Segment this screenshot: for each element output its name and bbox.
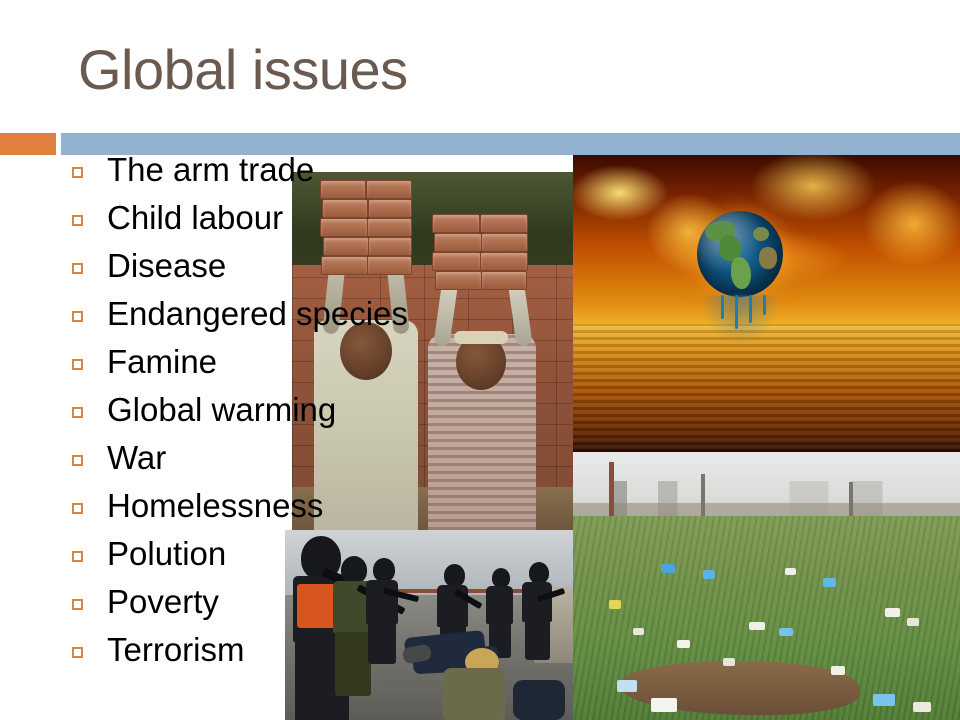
title-accent-bar — [0, 133, 56, 155]
hollow-square-bullet-icon — [72, 455, 83, 466]
hollow-square-bullet-icon — [72, 407, 83, 418]
list-item-label: Disease — [107, 248, 226, 284]
list-item-label: War — [107, 440, 166, 476]
hollow-square-bullet-icon — [72, 215, 83, 226]
hollow-square-bullet-icon — [72, 503, 83, 514]
hollow-square-bullet-icon — [72, 263, 83, 274]
list-item-label: Polution — [107, 536, 226, 572]
slide-title: Global issues — [78, 38, 408, 102]
list-item-label: Famine — [107, 344, 217, 380]
earth-globe-icon — [697, 211, 783, 297]
hollow-square-bullet-icon — [72, 167, 83, 178]
list-item[interactable]: Famine — [72, 338, 592, 386]
list-item-label: Child labour — [107, 200, 283, 236]
list-item-label: Poverty — [107, 584, 219, 620]
list-item[interactable]: Global warming — [72, 386, 592, 434]
list-item[interactable]: Polution — [72, 530, 592, 578]
list-item-label: The arm trade — [107, 152, 314, 188]
list-item[interactable]: Homelessness — [72, 482, 592, 530]
global-warming-photo — [573, 155, 960, 452]
pollution-photo — [573, 452, 960, 720]
list-item[interactable]: Endangered species — [72, 290, 592, 338]
list-item[interactable]: Child labour — [72, 194, 592, 242]
list-item[interactable]: Poverty — [72, 578, 592, 626]
global-issues-list: The arm trade Child labour Disease Endan… — [72, 146, 592, 674]
hollow-square-bullet-icon — [72, 647, 83, 658]
presentation-slide: Global issues — [0, 0, 960, 720]
list-item[interactable]: The arm trade — [72, 146, 592, 194]
list-item-label: Global warming — [107, 392, 336, 428]
list-item-label: Endangered species — [107, 296, 408, 332]
list-item[interactable]: Disease — [72, 242, 592, 290]
hollow-square-bullet-icon — [72, 311, 83, 322]
list-item[interactable]: Terrorism — [72, 626, 592, 674]
list-item-label: Terrorism — [107, 632, 245, 668]
list-item-label: Homelessness — [107, 488, 323, 524]
list-item[interactable]: War — [72, 434, 592, 482]
hollow-square-bullet-icon — [72, 359, 83, 370]
hollow-square-bullet-icon — [72, 599, 83, 610]
hollow-square-bullet-icon — [72, 551, 83, 562]
